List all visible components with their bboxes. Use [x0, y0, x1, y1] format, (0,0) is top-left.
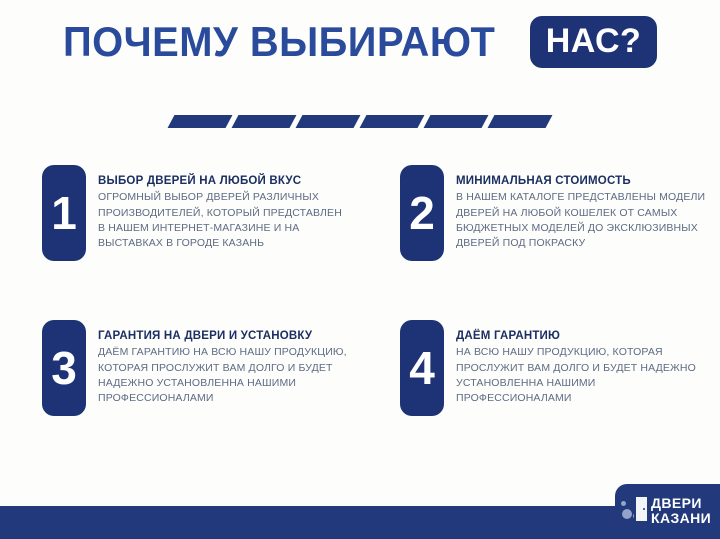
door-glyph-icon [634, 497, 647, 521]
benefit-item-1: 1 ВЫБОР ДВЕРЕЙ НА ЛЮБОЙ ВКУС ОГРОМНЫЙ ВЫ… [42, 165, 352, 261]
stripe-segment [424, 115, 489, 128]
benefit-title: ГАРАНТИЯ НА ДВЕРИ И УСТАНОВКУ [98, 329, 350, 343]
title-badge: НАС? [530, 16, 658, 68]
benefit-body: НА ВСЮ НАШУ ПРОДУКЦИЮ, КОТОРАЯ ПРОСЛУЖИТ… [456, 345, 708, 406]
logo-line-2: КАЗАНИ [651, 511, 711, 525]
promo-poster: ПОЧЕМУ ВЫБИРАЮТ НАС? 1 ВЫБОР ДВЕРЕЙ НА Л… [0, 0, 720, 539]
dot-icon [621, 501, 626, 506]
dot-icon [622, 509, 632, 519]
stripe-segment [488, 115, 553, 128]
benefit-item-3: 3 ГАРАНТИЯ НА ДВЕРИ И УСТАНОВКУ ДАЁМ ГАР… [42, 320, 352, 416]
benefit-body: ДАЁМ ГАРАНТИЮ НА ВСЮ НАШУ ПРОДУКЦИЮ, КОТ… [98, 345, 350, 406]
logo-wordmark: ДВЕРИ КАЗАНИ [651, 496, 711, 525]
title-row: ПОЧЕМУ ВЫБИРАЮТ НАС? [63, 16, 658, 68]
benefit-title: МИНИМАЛЬНАЯ СТОИМОСТЬ [456, 174, 708, 188]
benefit-number-badge: 4 [400, 320, 444, 416]
benefit-title: ДАЁМ ГАРАНТИЮ [456, 329, 708, 343]
brand-logo: ДВЕРИ КАЗАНИ [617, 486, 720, 534]
benefit-text-block: МИНИМАЛЬНАЯ СТОИМОСТЬ В НАШЕМ КАТАЛОГЕ П… [456, 165, 708, 251]
benefit-text-block: ГАРАНТИЯ НА ДВЕРИ И УСТАНОВКУ ДАЁМ ГАРАН… [98, 320, 350, 406]
benefit-body: В НАШЕМ КАТАЛОГЕ ПРЕДСТАВЛЕНЫ МОДЕЛИ ДВЕ… [456, 190, 708, 251]
benefit-item-4: 4 ДАЁМ ГАРАНТИЮ НА ВСЮ НАШУ ПРОДУКЦИЮ, К… [400, 320, 710, 416]
benefit-number-badge: 2 [400, 165, 444, 261]
benefit-item-2: 2 МИНИМАЛЬНАЯ СТОИМОСТЬ В НАШЕМ КАТАЛОГЕ… [400, 165, 710, 261]
benefit-title: ВЫБОР ДВЕРЕЙ НА ЛЮБОЙ ВКУС [98, 174, 350, 188]
stripe-divider [0, 112, 720, 130]
logo-line-1: ДВЕРИ [651, 496, 711, 510]
stripe-segment [296, 115, 361, 128]
benefit-number-badge: 3 [42, 320, 86, 416]
benefits-grid: 1 ВЫБОР ДВЕРЕЙ НА ЛЮБОЙ ВКУС ОГРОМНЫЙ ВЫ… [0, 165, 720, 455]
benefit-text-block: ВЫБОР ДВЕРЕЙ НА ЛЮБОЙ ВКУС ОГРОМНЫЙ ВЫБО… [98, 165, 350, 251]
bottom-bar [0, 506, 720, 539]
door-icon [621, 495, 647, 525]
benefit-number-badge: 1 [42, 165, 86, 261]
stripe-segment [232, 115, 297, 128]
stripe-segment [168, 115, 233, 128]
poster-header: ПОЧЕМУ ВЫБИРАЮТ НАС? [0, 14, 720, 70]
page-title: ПОЧЕМУ ВЫБИРАЮТ [63, 21, 495, 63]
benefit-text-block: ДАЁМ ГАРАНТИЮ НА ВСЮ НАШУ ПРОДУКЦИЮ, КОТ… [456, 320, 708, 406]
benefit-body: ОГРОМНЫЙ ВЫБОР ДВЕРЕЙ РАЗЛИЧНЫХ ПРОИЗВОД… [98, 190, 350, 251]
stripe-segment [360, 115, 425, 128]
